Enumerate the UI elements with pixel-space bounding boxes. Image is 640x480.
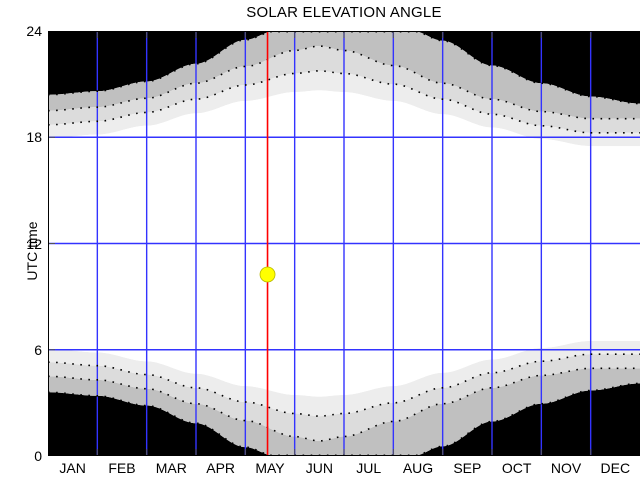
x-tick-label-jun: JUN <box>306 460 333 476</box>
solar-elevation-figure: SOLAR ELEVATION ANGLE <box>0 0 640 480</box>
x-tick-label-nov: NOV <box>551 460 581 476</box>
x-tick-label-may: MAY <box>255 460 284 476</box>
x-tick-label-oct: OCT <box>502 460 532 476</box>
chart-title: SOLAR ELEVATION ANGLE <box>48 4 640 21</box>
x-tick-label-aug: AUG <box>403 460 433 476</box>
solar-elevation-plot <box>48 31 640 456</box>
y-tick-label: 6 <box>0 342 42 358</box>
sun-position-marker[interactable] <box>260 267 275 282</box>
y-tick-label: 18 <box>0 129 42 145</box>
x-tick-label-apr: APR <box>206 460 235 476</box>
y-tick-label: 0 <box>0 448 42 464</box>
sun-marker-circle <box>260 267 275 282</box>
x-tick-label-jan: JAN <box>59 460 85 476</box>
y-axis-label: UTC time <box>24 191 40 311</box>
x-tick-label-dec: DEC <box>601 460 631 476</box>
plot-area[interactable] <box>48 31 640 456</box>
x-tick-label-sep: SEP <box>453 460 481 476</box>
x-tick-label-jul: JUL <box>356 460 381 476</box>
y-tick-label: 24 <box>0 23 42 39</box>
x-tick-label-feb: FEB <box>108 460 135 476</box>
x-tick-label-mar: MAR <box>156 460 187 476</box>
